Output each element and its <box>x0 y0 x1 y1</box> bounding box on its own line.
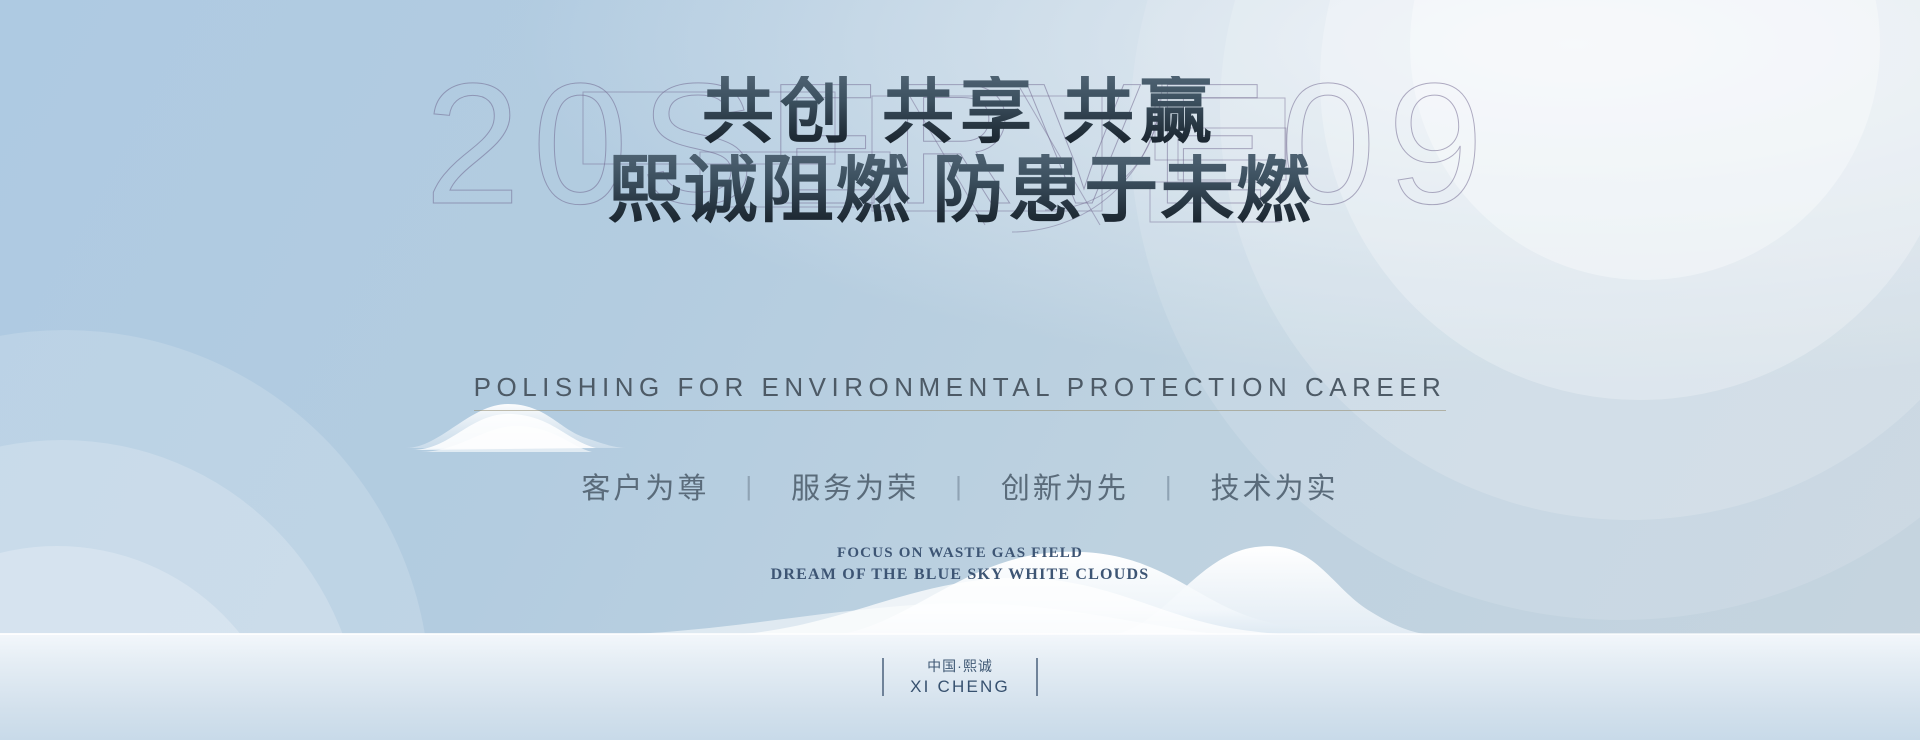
value-item-4: 技术为实 <box>1175 465 1375 507</box>
value-separator-1: | <box>745 471 755 502</box>
logo-right-bar-icon <box>1036 658 1038 696</box>
logo-chinese-name: 中国·熙诚 <box>910 658 1010 676</box>
logo-english-name: XI CHENG <box>910 676 1010 697</box>
value-item-3: 创新为先 <box>965 465 1165 507</box>
value-item-2: 服务为荣 <box>755 465 955 507</box>
ground-plane-edge <box>0 633 1920 635</box>
headline-block: 共创 共享 共赢 熙诚阻燃 防患于未燃 <box>0 76 1920 228</box>
tagline-block: POLISHING FOR ENVIRONMENTAL PROTECTION C… <box>0 372 1920 411</box>
serif-subtitle-line-2: DREAM OF THE BLUE SKY WHITE CLOUDS <box>0 564 1920 587</box>
poster-canvas: 20SERVE09 <box>0 0 1920 740</box>
serif-subtitle-block: FOCUS ON WASTE GAS FIELD DREAM OF THE BL… <box>0 543 1920 587</box>
serif-subtitle-line-1: FOCUS ON WASTE GAS FIELD <box>0 543 1920 564</box>
brand-logo: 中国·熙诚 XI CHENG <box>0 658 1920 697</box>
english-tagline: POLISHING FOR ENVIRONMENTAL PROTECTION C… <box>474 372 1447 411</box>
value-item-1: 客户为尊 <box>545 465 745 507</box>
logo-left-bar-icon <box>882 658 884 696</box>
values-row: 客户为尊 | 服务为荣 | 创新为先 | 技术为实 <box>0 465 1920 507</box>
headline-line-1: 共创 共享 共赢 <box>0 76 1920 148</box>
logo-text-block: 中国·熙诚 XI CHENG <box>910 658 1010 697</box>
value-separator-2: | <box>955 471 965 502</box>
headline-line-2: 熙诚阻燃 防患于未燃 <box>0 154 1920 228</box>
value-separator-3: | <box>1165 471 1175 502</box>
